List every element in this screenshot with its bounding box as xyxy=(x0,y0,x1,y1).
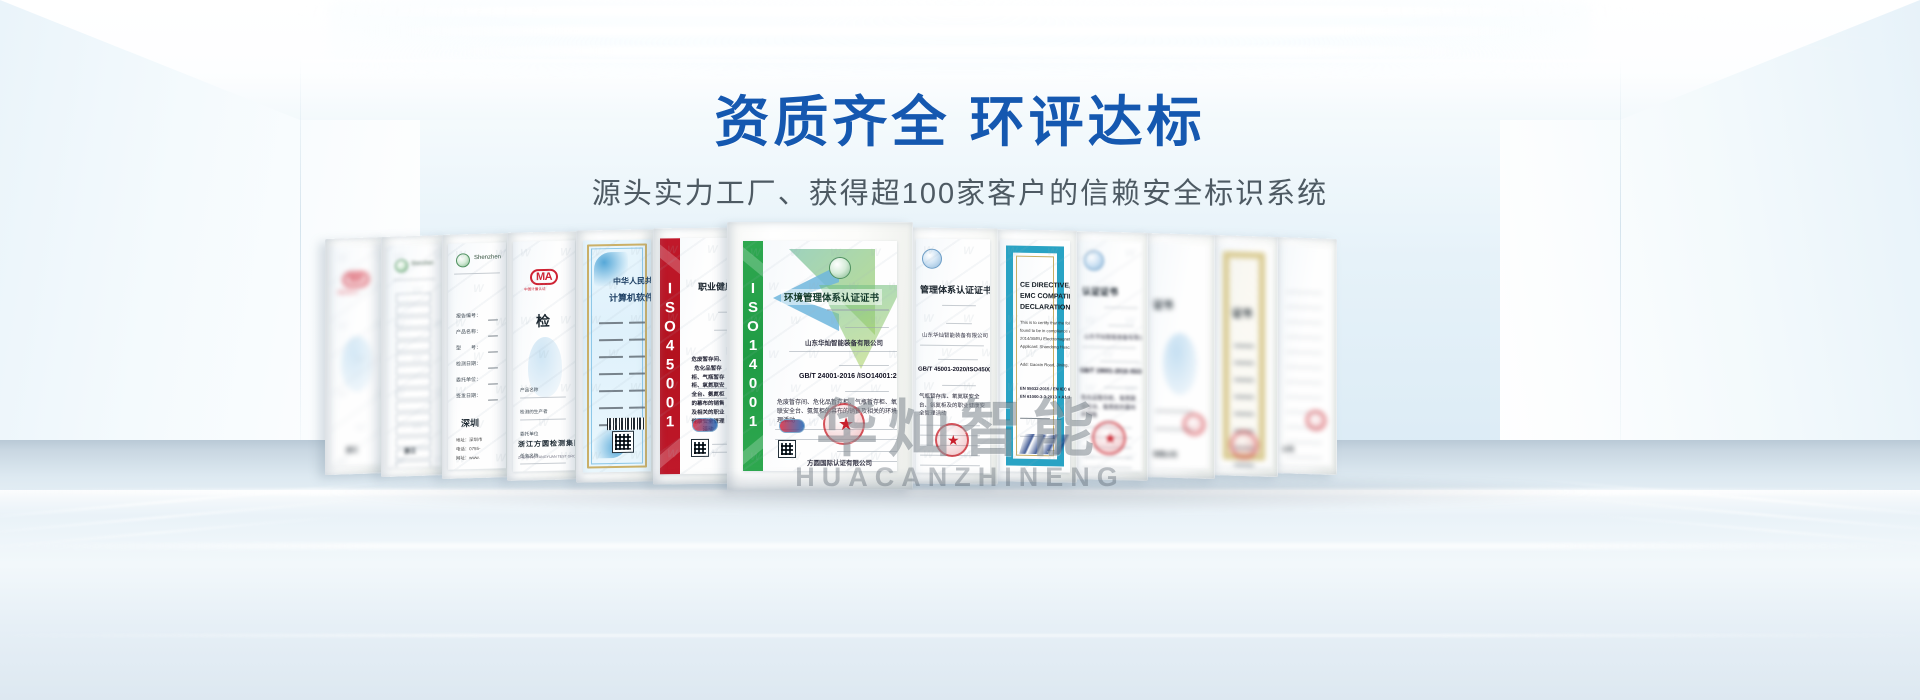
report-field-label: 产品名称 xyxy=(520,387,538,393)
cert-standard: GB/T 24001-2016 /ISO14001:2015 xyxy=(799,373,897,380)
floor-band xyxy=(0,634,1920,637)
report-field-label: 报告编号： xyxy=(456,312,481,320)
certificate-frame[interactable]: 管理体系认证证书山东华灿智能装备有限公司GB/T 45001-2020/ISO4… xyxy=(908,228,998,485)
official-red-seal: ★ xyxy=(1092,421,1126,456)
certificate-paper: CE DIRECTIVE,EMC COMPATIBILITY DIRECTIVE… xyxy=(1000,239,1070,472)
ce-standard-line: EN 61000-3-3:2013 + A1:2019 xyxy=(1020,394,1070,400)
certificate-paper: ISO14001环境管理体系认证证书山东华灿智能装备有限公司GB/T 24001… xyxy=(743,241,897,471)
cert-footer: 浙江 xyxy=(404,446,416,455)
official-red-seal xyxy=(1306,410,1326,431)
official-red-seal xyxy=(1183,413,1205,436)
cert-title: 证书 xyxy=(1153,296,1173,312)
official-red-seal: ★ xyxy=(935,423,969,457)
ma-mark-caption: 中国计量认证 xyxy=(524,287,546,292)
cert-company: 山东华灿智能装备有限公司 xyxy=(922,331,988,340)
certificate-paper: 证书有限公司 xyxy=(1149,242,1209,470)
cert-footer: 公司 xyxy=(1282,444,1294,453)
cert-footer: 有限公司 xyxy=(1153,449,1177,459)
iso-number: ISO14001 xyxy=(745,280,762,432)
cert-scope: 危化品暂存柜、氧氮联安全台、氨氮柜的幕布的销售 xyxy=(1081,394,1137,421)
cert-footer: 浙江方圆检测集团股份有限公司 xyxy=(518,437,575,450)
page-title: 资质齐全 环评达标 xyxy=(0,92,1920,154)
ma-mark-caption: 中国计量认证 xyxy=(337,289,357,295)
certificate-paper: MA中国计量认证检产品名称检测的生产者委托单位任务名称浙江方圆检测集团股份有限公… xyxy=(513,240,575,471)
cert-title: 认证证书 xyxy=(1082,284,1118,298)
cert-footer-line: 网址：www. xyxy=(456,455,480,462)
certificate-paper: Shenzhen浙江WWWWWWWWWWW xyxy=(387,244,441,468)
cert-title: 环境管理体系认证证书 xyxy=(781,289,882,305)
iso-spine: ISO14001 xyxy=(743,241,763,471)
certificate-paper: 证书 xyxy=(1216,244,1272,468)
cert-title: Shenzhen xyxy=(411,260,434,267)
cert-title: 证书 xyxy=(1232,305,1252,321)
cert-subtitle: 计算机软件著作权登记证书 xyxy=(609,289,651,304)
certificate-wall: MA中国计量认证浙江WWWWWWWWWWWShenzhen浙江WWWWWWWWW… xyxy=(0,228,1920,490)
cert-scope: 气瓶暂存库、氧氮联安全台、氨氮柜及的职业健康安全管理活动 xyxy=(919,393,985,419)
certificate-frame[interactable]: ISO14001环境管理体系认证证书山东华灿智能装备有限公司GB/T 24001… xyxy=(727,222,913,490)
ce-title-line: CE DIRECTIVE, xyxy=(1020,282,1070,290)
ma-mark-icon: MA xyxy=(343,272,369,288)
report-field-label: 委托单位： xyxy=(456,376,481,384)
official-red-seal xyxy=(1230,431,1258,460)
cert-title: 检 xyxy=(536,311,550,331)
cert-company: 山东华灿智能装备有限公司 xyxy=(805,337,883,347)
certificate-frame[interactable]: 公司 xyxy=(1273,237,1337,475)
iso-spine: ISO45001 xyxy=(660,238,680,474)
certificate-paper: 公司 xyxy=(1278,245,1332,467)
ceiling-edge-line xyxy=(300,60,1620,62)
cert-footer-line: 电话：0755- xyxy=(456,446,480,453)
floor-highlight-2 xyxy=(0,543,1920,549)
certificate-paper: 管理体系认证证书山东华灿智能装备有限公司GB/T 45001-2020/ISO4… xyxy=(916,239,990,474)
ceiling-cove-light-3 xyxy=(420,46,1500,56)
cert-footer-line: 地址：深圳市 xyxy=(456,437,482,444)
certificate-frame[interactable]: MA中国计量认证检产品名称检测的生产者委托单位任务名称浙江方圆检测集团股份有限公… xyxy=(507,231,581,481)
certificate-frame[interactable]: 认证证书山东华灿智能装备有限公司GB/T 19001-2016 /ISO9001… xyxy=(1072,231,1148,481)
report-field-label: 产品名称： xyxy=(456,328,481,336)
certificate-paper: 认证证书山东华灿智能装备有限公司GB/T 19001-2016 /ISO9001… xyxy=(1078,240,1142,471)
certificate-paper: 中华人民共和国计算机软件著作权登记证书WWWWWWWWWWWWWW xyxy=(583,239,651,472)
ceiling-cove-light-1 xyxy=(299,6,1621,16)
cert-footer: 深圳 xyxy=(461,416,479,430)
ceiling-cove-light-2 xyxy=(360,26,1560,36)
certificate-frame[interactable]: Shenzhen浙江WWWWWWWWWWW xyxy=(381,235,447,477)
certificate-frame[interactable]: 证书 xyxy=(1210,235,1278,477)
report-field-label: 检测日期： xyxy=(456,360,481,368)
certification-body-seal xyxy=(922,249,942,269)
certificate-frame[interactable]: 中华人民共和国计算机软件著作权登记证书WWWWWWWWWWWWWW xyxy=(576,229,658,482)
certificate-frame[interactable]: 证书有限公司 xyxy=(1143,233,1215,479)
report-field-label: 委托单位 xyxy=(520,431,538,437)
report-field-label: 签发日期： xyxy=(456,392,481,400)
banner-scene: 资质齐全 环评达标 源头实力工厂、获得超100家客户的信赖安全标识系统 MA中国… xyxy=(0,0,1920,700)
certificate-paper: ISO45001职业健康安全危废暂存间、危化品暂存柜、气瓶暂存柜、氧氮联安全台、… xyxy=(660,238,732,475)
report-field-label: 检测的生产者 xyxy=(520,409,548,416)
ma-mark-icon: MA xyxy=(530,269,558,286)
iso-number: ISO45001 xyxy=(662,280,679,432)
frames-contact-shadow xyxy=(330,470,1590,514)
report-field-label: 型 号： xyxy=(456,344,481,352)
cert-footer: 浙江 xyxy=(346,445,358,454)
certificate-frame[interactable]: MA中国计量认证浙江WWWWWWWWWWW xyxy=(325,237,387,475)
cert-footer: 方圆国际认证有限公司 xyxy=(807,457,872,467)
authorized-signature xyxy=(1019,434,1070,455)
certification-body-seal xyxy=(1084,250,1104,270)
certificate-paper: Shenzhen报告编号：产品名称：型 号：检测日期：委托单位：签发日期：深圳地… xyxy=(448,242,506,470)
headline-block: 资质齐全 环评达标 源头实力工厂、获得超100家客户的信赖安全标识系统 xyxy=(0,92,1920,212)
cert-title: 管理体系认证证书 xyxy=(920,283,990,297)
page-subtitle: 源头实力工厂、获得超100家客户的信赖安全标识系统 xyxy=(0,170,1920,212)
cert-title: 中华人民共和国 xyxy=(613,275,651,287)
cert-standard: GB/T 45001-2020/ISO45001:2018 xyxy=(918,367,990,374)
certification-body-seal xyxy=(829,257,851,279)
cert-title: Shenzhen xyxy=(474,254,501,261)
certificate-frame[interactable]: Shenzhen报告编号：产品名称：型 号：检测日期：委托单位：签发日期：深圳地… xyxy=(442,233,512,479)
certificate-paper: MA中国计量认证浙江WWWWWWWWWWW xyxy=(330,245,382,467)
official-red-seal: ★ xyxy=(823,403,865,445)
certificate-frame[interactable]: CE DIRECTIVE,EMC COMPATIBILITY DIRECTIVE… xyxy=(993,229,1077,482)
cert-company: 山东华灿智能装备有限公司 xyxy=(1084,332,1142,341)
